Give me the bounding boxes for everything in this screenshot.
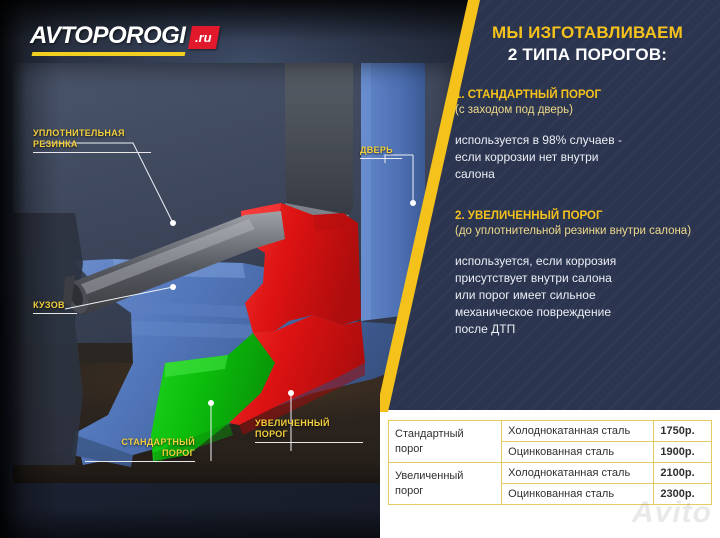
- section-standard-subtitle: (с заходом под дверь): [455, 103, 714, 118]
- callout-seal-label: УПЛОТНИТЕЛЬНАЯ РЕЗИНКА: [33, 128, 151, 153]
- price-row-price: 2300р.: [654, 484, 712, 505]
- info-pane: МЫ ИЗГОТАВЛИВАЕМ 2 ТИПА ПОРОГОВ: 1. СТАН…: [380, 0, 720, 538]
- table-row: Увеличенный порог Холоднокатанная сталь …: [389, 463, 712, 484]
- section-standard: 1. СТАНДАРТНЫЙ ПОРОГ (с заходом под двер…: [455, 88, 720, 183]
- price-table: Стандартный порог Холоднокатанная сталь …: [388, 420, 712, 505]
- header-line-2: 2 ТИПА ПОРОГОВ:: [455, 44, 720, 66]
- callout-door-label: ДВЕРЬ: [360, 145, 402, 159]
- logo-wordmark: AVTOPOROGI: [30, 22, 185, 53]
- price-row-material: Оцинкованная сталь: [502, 484, 654, 505]
- price-row-material: Оцинкованная сталь: [502, 442, 654, 463]
- callout-extended-sill-label: УВЕЛИЧЕННЫЙ ПОРОГ: [255, 418, 363, 443]
- price-row-price: 1900р.: [654, 442, 712, 463]
- section-standard-body: используется в 98% случаев - если корроз…: [455, 132, 714, 183]
- price-row-name: Увеличенный порог: [389, 463, 502, 505]
- promo-banner: УПЛОТНИТЕЛЬНАЯ РЕЗИНКА ДВЕРЬ КУЗОВ СТАНД…: [0, 0, 720, 538]
- site-logo[interactable]: AVTOPOROGI .ru: [30, 22, 218, 53]
- section-extended-title: 2. УВЕЛИЧЕННЫЙ ПОРОГ: [455, 209, 714, 224]
- price-row-price: 1750р.: [654, 421, 712, 442]
- logo-underline: [32, 52, 186, 56]
- price-row-price: 2100р.: [654, 463, 712, 484]
- section-extended-subtitle: (до уплотнительной резинки внутри салона…: [455, 224, 714, 239]
- section-standard-title: 1. СТАНДАРТНЫЙ ПОРОГ: [455, 88, 714, 103]
- header-line-1: МЫ ИЗГОТАВЛИВАЕМ: [455, 22, 720, 44]
- table-row: Стандартный порог Холоднокатанная сталь …: [389, 421, 712, 442]
- callout-standard-sill-label: СТАНДАРТНЫЙ ПОРОГ: [85, 437, 195, 462]
- logo-wordmark-text: AVTOPOROGI: [30, 22, 185, 49]
- left-dark-wall: [13, 213, 83, 465]
- price-row-material: Холоднокатанная сталь: [502, 421, 654, 442]
- price-table-wrapper: Стандартный порог Холоднокатанная сталь …: [388, 420, 712, 505]
- info-content: МЫ ИЗГОТАВЛИВАЕМ 2 ТИПА ПОРОГОВ: 1. СТАН…: [455, 0, 720, 338]
- logo-domain-text: .ru: [195, 30, 212, 45]
- logo-domain-badge: .ru: [188, 26, 220, 49]
- callout-body-label: КУЗОВ: [33, 300, 77, 314]
- info-header: МЫ ИЗГОТАВЛИВАЕМ 2 ТИПА ПОРОГОВ:: [455, 0, 720, 66]
- section-extended-body: используется, если коррозия присутствует…: [455, 253, 714, 338]
- price-row-material: Холоднокатанная сталь: [502, 463, 654, 484]
- price-row-name: Стандартный порог: [389, 421, 502, 463]
- section-extended: 2. УВЕЛИЧЕННЫЙ ПОРОГ (до уплотнительной …: [455, 209, 720, 338]
